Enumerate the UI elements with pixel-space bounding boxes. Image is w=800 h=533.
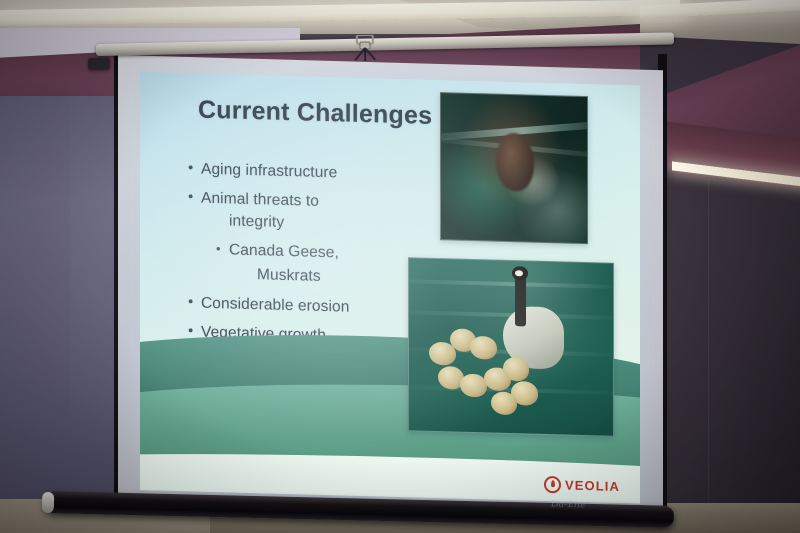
veolia-logo: VEOLIA — [544, 476, 620, 495]
gosling — [460, 373, 487, 397]
page-title: Current Challenges — [198, 96, 432, 131]
gosling — [470, 336, 497, 360]
bullet-marker-icon: • — [188, 159, 201, 177]
screen-mount-bar-endcap — [88, 58, 110, 70]
projected-slide: Current Challenges • Aging infrastructur… — [140, 72, 640, 504]
bullet-marker-icon: • — [188, 188, 201, 206]
list-item-label: Aging infrastructure — [201, 160, 337, 184]
sub-list-item-label: Muskrats — [257, 265, 321, 287]
list-item-label: Animal threats to — [201, 189, 319, 212]
water-ripple — [408, 279, 614, 289]
gosling — [491, 391, 518, 415]
bullet-marker-icon: • — [188, 293, 201, 311]
presentation-room-photo: Current Challenges • Aging infrastructur… — [0, 0, 800, 533]
muskrat-photo — [440, 92, 588, 244]
screen-roller-endcap — [42, 492, 54, 513]
list-item-label: Vegetative growth — [201, 323, 326, 346]
hook-shape-icon — [348, 35, 382, 62]
screen-hanger-hook — [348, 35, 382, 62]
canada-geese-photo — [408, 257, 614, 437]
sub-list-item-label: Canada Geese, — [229, 240, 339, 263]
projection-screen: Current Challenges • Aging infrastructur… — [96, 44, 676, 514]
gosling — [503, 357, 530, 381]
veolia-droplet-icon — [544, 476, 561, 493]
list-item-label: Considerable erosion — [201, 294, 349, 318]
wall-panel-seam — [708, 140, 709, 533]
bullet-marker-icon: • — [188, 322, 201, 340]
list-item-label: integrity — [229, 211, 284, 232]
veolia-wordmark: VEOLIA — [565, 478, 620, 494]
roller-brand-text: Da-Lite — [551, 499, 671, 516]
muskrat-body — [496, 133, 534, 192]
bullet-marker-icon: • — [216, 240, 229, 258]
